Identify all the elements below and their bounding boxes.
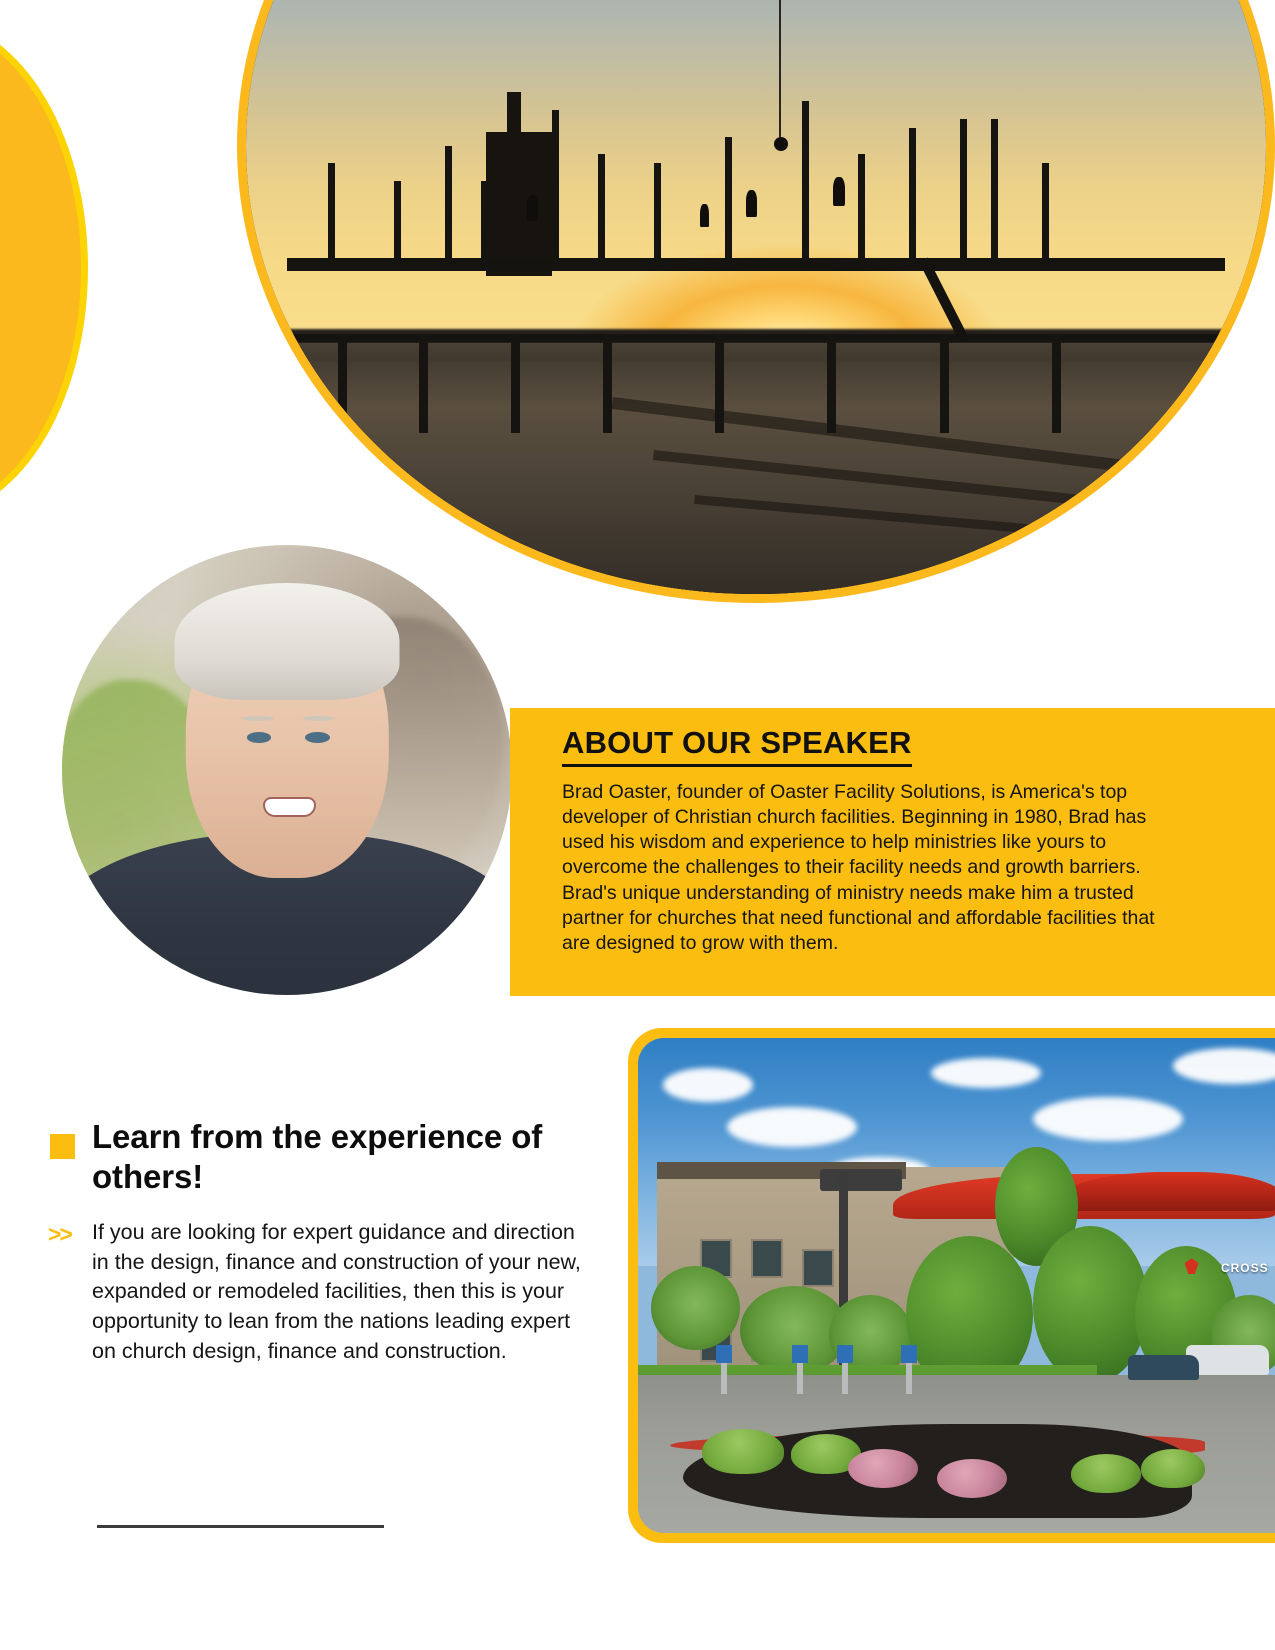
decorative-ellipse-left bbox=[0, 18, 88, 518]
portrait-eye-left bbox=[247, 732, 272, 743]
lower-column bbox=[1052, 334, 1061, 433]
lower-column bbox=[940, 334, 949, 433]
lower-column bbox=[827, 334, 836, 433]
handicap-sign bbox=[797, 1345, 803, 1395]
steel-column bbox=[960, 119, 967, 263]
about-speaker-title: ABOUT OUR SPEAKER bbox=[562, 725, 912, 767]
building-photo-frame: CROSS bbox=[628, 1028, 1275, 1543]
steel-column bbox=[598, 154, 605, 262]
steel-column bbox=[654, 163, 661, 262]
window bbox=[804, 1251, 833, 1286]
lower-column bbox=[419, 334, 428, 433]
cloud bbox=[931, 1058, 1041, 1088]
worker-silhouette bbox=[746, 190, 757, 217]
square-bullet-icon bbox=[50, 1134, 75, 1159]
hero-image-clip bbox=[246, 0, 1266, 594]
learn-body-text: If you are looking for expert guidance a… bbox=[92, 1218, 597, 1366]
shrub bbox=[1071, 1454, 1141, 1494]
handicap-sign bbox=[842, 1345, 848, 1395]
about-speaker-panel: ABOUT OUR SPEAKER Brad Oaster, founder o… bbox=[510, 708, 1275, 996]
church-sign-text: CROSS bbox=[1221, 1261, 1269, 1275]
steel-column bbox=[394, 181, 401, 262]
worker-silhouette bbox=[700, 204, 709, 227]
steel-column bbox=[991, 119, 998, 263]
worker-silhouette bbox=[833, 177, 845, 206]
handicap-sign-plate bbox=[901, 1345, 917, 1363]
flyer-page: ABOUT OUR SPEAKER Brad Oaster, founder o… bbox=[0, 0, 1275, 1650]
steel-column bbox=[725, 137, 732, 263]
handicap-sign bbox=[906, 1345, 912, 1395]
steel-column bbox=[909, 128, 916, 263]
handicap-sign bbox=[721, 1345, 727, 1395]
portrait-smile bbox=[265, 799, 315, 814]
portrait-brow-right bbox=[303, 716, 335, 721]
lower-column bbox=[603, 334, 612, 433]
upper-beam bbox=[287, 258, 1225, 271]
parked-car bbox=[1128, 1355, 1198, 1380]
hero-construction-circle bbox=[237, 0, 1275, 603]
double-chevron-icon: >> bbox=[48, 1221, 71, 1248]
steel-column bbox=[445, 146, 452, 263]
steel-column bbox=[858, 154, 865, 262]
palm-tree bbox=[651, 1266, 740, 1350]
steel-column bbox=[802, 101, 809, 262]
learn-heading: Learn from the experience of others! bbox=[92, 1117, 592, 1197]
handicap-sign-plate bbox=[792, 1345, 808, 1363]
building-photo: CROSS bbox=[638, 1038, 1275, 1533]
shrub bbox=[702, 1429, 785, 1474]
horizontal-divider bbox=[97, 1525, 384, 1528]
handicap-sign-plate bbox=[837, 1345, 853, 1363]
hero-construction-photo bbox=[246, 0, 1266, 594]
steel-column bbox=[481, 181, 488, 262]
steel-column bbox=[1042, 163, 1049, 262]
handicap-sign-plate bbox=[716, 1345, 732, 1363]
about-speaker-body: Brad Oaster, founder of Oaster Facility … bbox=[562, 780, 1162, 956]
shrub bbox=[1141, 1449, 1205, 1489]
parking-lamp-head bbox=[820, 1169, 903, 1191]
speaker-portrait bbox=[62, 545, 512, 995]
portrait-brow-left bbox=[242, 716, 274, 721]
crane-cable bbox=[779, 0, 781, 137]
window bbox=[753, 1241, 782, 1276]
cloud bbox=[663, 1068, 753, 1102]
lower-column bbox=[715, 334, 724, 433]
core-stub bbox=[507, 92, 521, 137]
steel-column bbox=[328, 163, 335, 262]
worker-silhouette bbox=[527, 195, 538, 221]
lower-column bbox=[338, 334, 347, 433]
elevator-core-wall bbox=[486, 132, 552, 276]
crane-hook-ball bbox=[774, 137, 788, 151]
sunset-sky bbox=[246, 0, 1266, 352]
lower-column bbox=[511, 334, 520, 433]
portrait-hair bbox=[175, 583, 400, 700]
steel-column bbox=[552, 110, 559, 262]
portrait-eye-right bbox=[305, 732, 330, 743]
